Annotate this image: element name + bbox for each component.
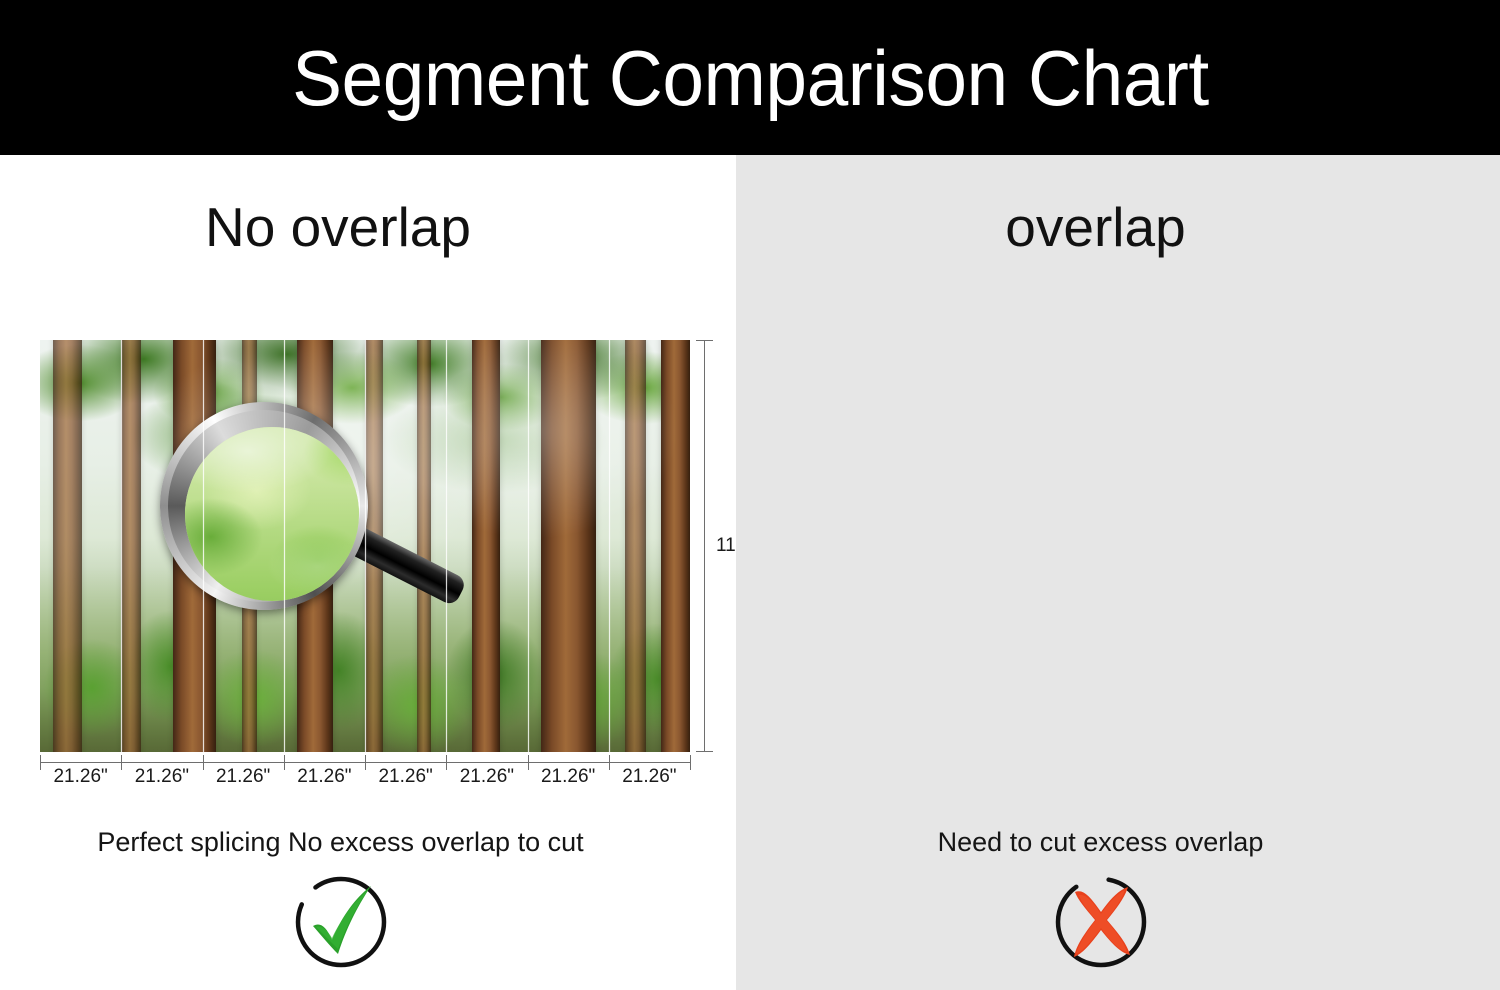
panel-overlap: overlap bbox=[736, 155, 1500, 990]
title-banner: Segment Comparison Chart bbox=[0, 0, 1500, 155]
segment-width-label: 21.26" bbox=[609, 766, 690, 788]
verdict-no-overlap bbox=[0, 870, 736, 974]
segment-seams-left bbox=[40, 340, 690, 752]
segment-width-label: 21.26" bbox=[121, 766, 202, 788]
cross-icon bbox=[1049, 870, 1153, 974]
page-title: Segment Comparison Chart bbox=[292, 39, 1209, 117]
segment-comparison-chart: Segment Comparison Chart No overlap bbox=[0, 0, 1500, 990]
diagram-no-overlap: 21.26" 21.26" 21.26" 21.26" 21.26" 21.26… bbox=[40, 340, 690, 752]
segment-width-label: 21.26" bbox=[203, 766, 284, 788]
segment-width-label: 21.26" bbox=[40, 766, 121, 788]
segment-width-label: 21.26" bbox=[446, 766, 527, 788]
caption-no-overlap: Perfect splicing No excess overlap to cu… bbox=[0, 827, 736, 858]
width-labels-left: 21.26" 21.26" 21.26" 21.26" 21.26" 21.26… bbox=[40, 766, 690, 788]
panel-no-overlap: No overlap bbox=[0, 155, 736, 990]
verdict-overlap bbox=[736, 870, 1500, 974]
forest-photo-left bbox=[40, 340, 690, 752]
caption-overlap: Need to cut excess overlap bbox=[736, 827, 1500, 858]
panel-heading-overlap: overlap bbox=[736, 200, 1500, 255]
segment-width-label: 21.26" bbox=[528, 766, 609, 788]
segment-width-label: 21.26" bbox=[284, 766, 365, 788]
check-icon bbox=[289, 870, 393, 974]
panel-heading-no-overlap: No overlap bbox=[0, 200, 736, 255]
segment-width-label: 21.26" bbox=[365, 766, 446, 788]
comparison-panels: No overlap bbox=[0, 155, 1500, 990]
